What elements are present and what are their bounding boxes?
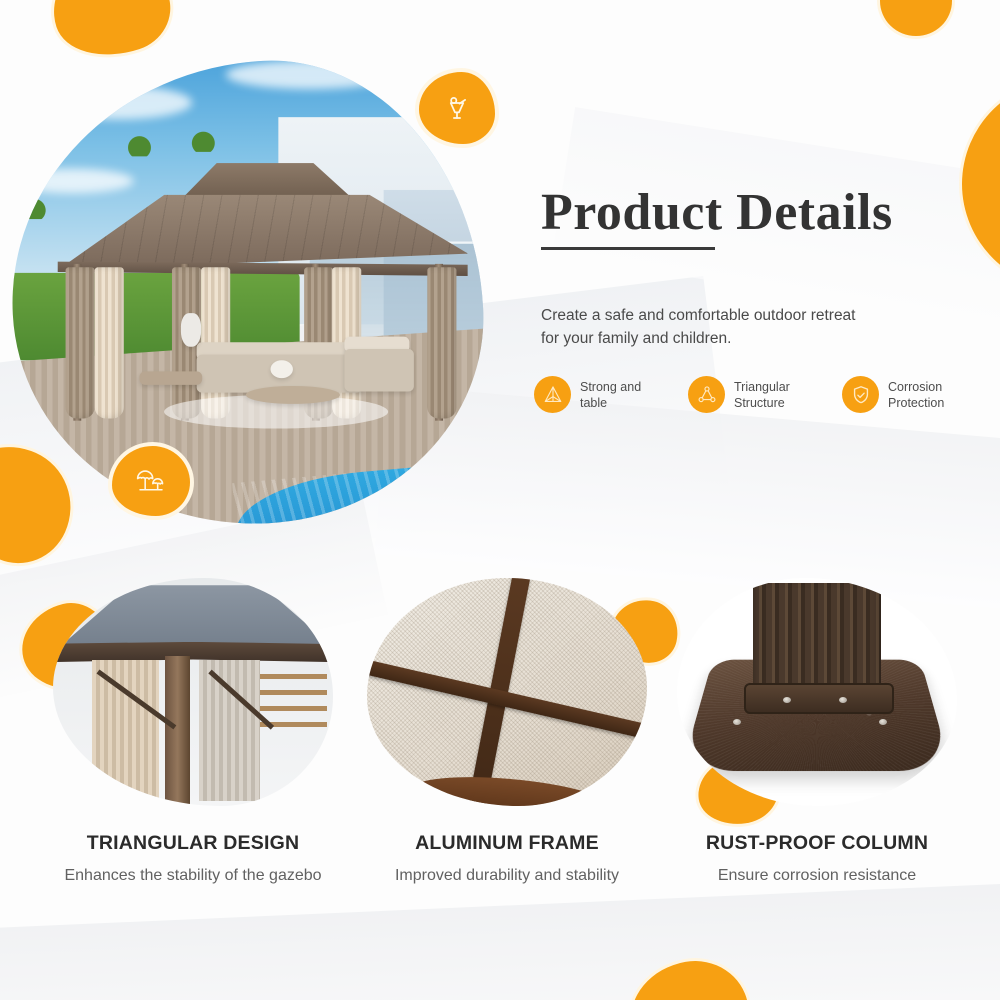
page-title: Product Details [541,186,893,241]
decorative-blob-top-left [39,0,181,71]
title-underline [541,247,715,250]
feature-label: Triangular Structure [734,379,812,411]
hero-gazebo-image [0,50,494,536]
feature-badge-triangular-structure: Triangular Structure [688,376,812,413]
shield-check-icon [842,376,879,413]
cocktail-drink-icon [419,72,495,144]
feature-badge-strong-and-table: Strong and table [534,376,658,413]
decorative-blob-top-dot [880,0,952,36]
page-title-block: Product Details [541,186,893,250]
beach-umbrella-icon [112,446,190,516]
page-subtitle: Create a safe and comfortable outdoor re… [541,304,871,351]
card-description: Enhances the stability of the gazebo [38,864,348,887]
feature-label: Corrosion Protection [888,379,966,411]
card-description: Ensure corrosion resistance [662,864,972,887]
pyramid-icon [534,376,571,413]
decorative-circle-right [962,78,1000,290]
card-title: ALUMINUM FRAME [352,832,662,855]
triangle-nodes-icon [688,376,725,413]
card-title: RUST-PROOF COLUMN [662,832,972,855]
rust-proof-column-image [677,578,957,806]
decorative-blob-bottom [623,952,756,1000]
triangular-design-image [53,578,333,806]
product-detail-card: TRIANGULAR DESIGN Enhances the stability… [38,578,348,887]
product-detail-card: ALUMINUM FRAME Improved durability and s… [352,578,662,887]
product-detail-card: RUST-PROOF COLUMN Ensure corrosion resis… [662,578,972,887]
card-description: Improved durability and stability [352,864,662,887]
background-wash [0,880,1000,1000]
feature-badge-list: Strong and table Triangular Structure [534,376,966,413]
feature-badge-corrosion-protection: Corrosion Protection [842,376,966,413]
card-title: TRIANGULAR DESIGN [38,832,348,855]
feature-label: Strong and table [580,379,658,411]
product-details-infographic: Product Details Create a safe and comfor… [0,0,1000,1000]
aluminum-frame-image [367,578,647,806]
